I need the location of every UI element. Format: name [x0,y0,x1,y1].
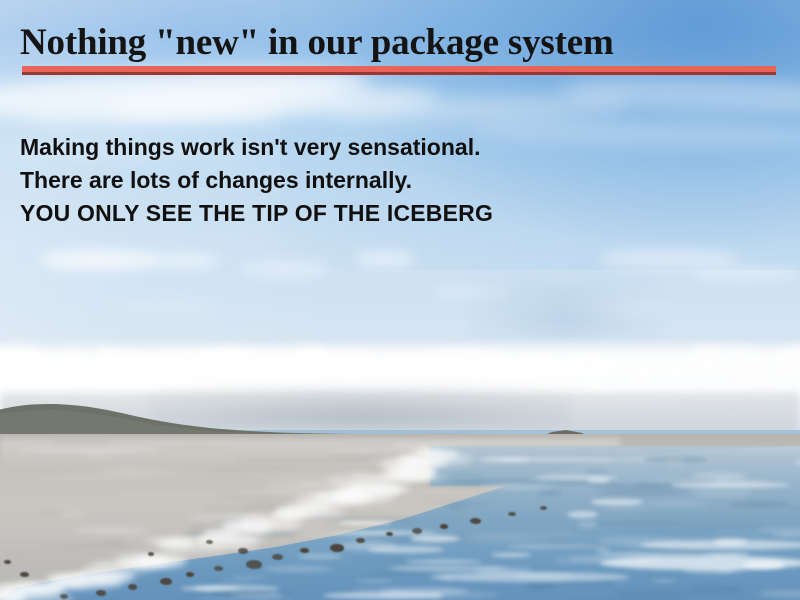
cloud-puff [355,252,415,266]
cloud-puff [40,250,160,270]
title-underline-rule [22,66,776,75]
cloud-puff [690,266,800,280]
cloud-puff [240,262,330,276]
cloud-puff [150,254,220,268]
cloud-puff [600,250,740,268]
body-line-2: There are lots of changes internally. [20,164,760,197]
slide-title: Nothing "new" in our package system [20,21,614,65]
slide-canvas: Nothing "new" in our package system Maki… [0,0,800,600]
slide-body: Making things work isn't very sensationa… [20,131,760,230]
beach-photo-background [0,0,800,600]
body-line-3: YOU ONLY SEE THE TIP OF THE ICEBERG [20,197,760,230]
body-line-1: Making things work isn't very sensationa… [20,131,760,164]
cloud-puff [120,300,220,312]
